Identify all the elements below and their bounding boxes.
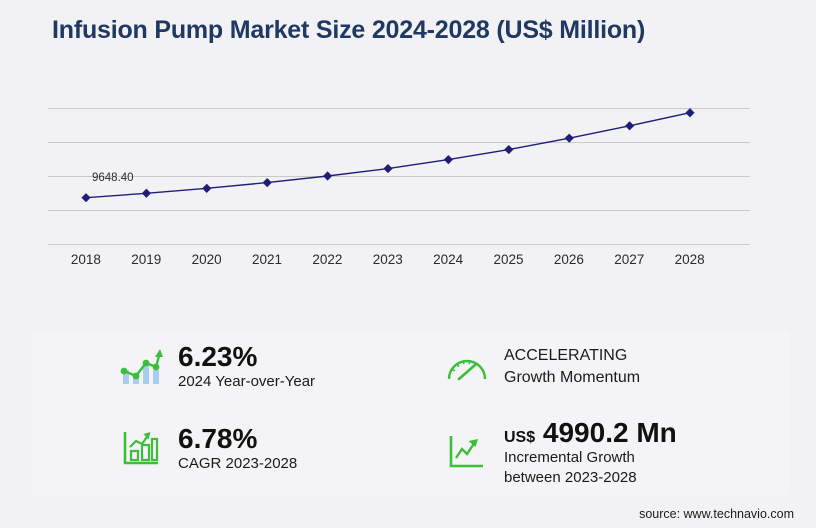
stat-label-line2: between 2023-2028	[504, 468, 677, 488]
x-tick-label: 2027	[614, 252, 644, 267]
stat-year-over-year: 6.23% 2024 Year-over-Year	[118, 341, 315, 392]
stat-value: 6.78%	[178, 423, 297, 454]
data-point-marker	[625, 121, 634, 130]
stat-amount: 4990.2 Mn	[543, 417, 677, 448]
stat-incremental-growth: US$ 4990.2 Mn Incremental Growth between…	[444, 417, 677, 487]
data-point-marker	[685, 108, 694, 117]
x-tick-label: 2024	[433, 252, 463, 267]
chart-x-axis: 2018 2019 2020 2021 2022 2023 2024 2025 …	[48, 252, 750, 274]
stat-growth-momentum: ACCELERATING Growth Momentum	[444, 345, 640, 389]
x-tick-label: 2022	[312, 252, 342, 267]
stat-currency-unit: US$	[504, 429, 535, 446]
data-point-marker	[383, 164, 392, 173]
speedometer-icon	[444, 345, 490, 389]
data-point-marker	[323, 171, 332, 180]
stat-value: 6.23%	[178, 341, 315, 372]
x-tick-label: 2019	[131, 252, 161, 267]
stat-text: ACCELERATING Growth Momentum	[504, 345, 640, 389]
data-point-marker	[565, 134, 574, 143]
stat-label: 2024 Year-over-Year	[178, 372, 315, 392]
stat-label-line1: Incremental Growth	[504, 448, 677, 468]
chart-plot-area: 9648.40	[48, 96, 750, 248]
stat-text: 6.78% CAGR 2023-2028	[178, 423, 297, 474]
data-point-marker	[142, 189, 151, 198]
data-point-marker	[504, 145, 513, 154]
stat-text: 6.23% 2024 Year-over-Year	[178, 341, 315, 392]
data-point-label-2018: 9648.40	[92, 172, 134, 184]
data-point-marker	[81, 193, 90, 202]
bar-chart-trend-up-icon	[118, 344, 164, 388]
x-tick-label: 2021	[252, 252, 282, 267]
stat-text: US$ 4990.2 Mn Incremental Growth between…	[504, 417, 677, 487]
stat-label: Growth Momentum	[504, 367, 640, 389]
x-tick-label: 2020	[192, 252, 222, 267]
x-tick-label: 2025	[493, 252, 523, 267]
data-point-marker	[444, 155, 453, 164]
stat-cagr: 6.78% CAGR 2023-2028	[118, 423, 297, 474]
x-tick-label: 2023	[373, 252, 403, 267]
chart-series-line	[48, 96, 750, 248]
data-point-marker	[202, 184, 211, 193]
stat-value: US$ 4990.2 Mn	[504, 417, 677, 448]
x-tick-label: 2018	[71, 252, 101, 267]
x-tick-label: 2028	[675, 252, 705, 267]
x-tick-label: 2026	[554, 252, 584, 267]
bar-chart-arrow-icon	[118, 426, 164, 470]
data-point-marker	[263, 178, 272, 187]
source-attribution: source: www.technavio.com	[639, 507, 794, 521]
page-title: Infusion Pump Market Size 2024-2028 (US$…	[52, 16, 645, 45]
line-chart-arrow-icon	[444, 430, 490, 474]
stat-headline: ACCELERATING	[504, 345, 640, 367]
stat-label: CAGR 2023-2028	[178, 454, 297, 474]
stats-panel: 6.23% 2024 Year-over-Year ACCELERATING G…	[32, 331, 790, 495]
